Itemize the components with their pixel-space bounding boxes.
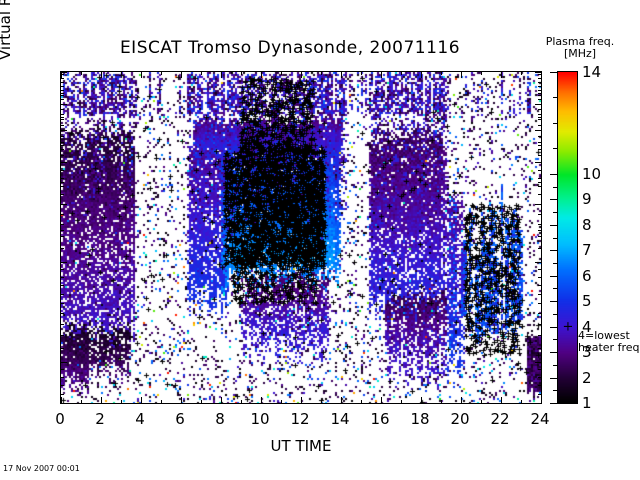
y-tick-minor	[60, 149, 64, 150]
y-tick-major	[60, 403, 67, 404]
y-axis-title-line1: Virtual Range [km]	[0, 0, 14, 60]
x-tick-minor	[201, 71, 202, 75]
y-tick-minor	[60, 170, 64, 171]
colorbar-tick-minor	[553, 339, 557, 340]
y-tick-minor	[60, 313, 64, 314]
y-tick-minor	[538, 285, 542, 286]
y-tick-minor	[538, 142, 542, 143]
y-tick-minor	[538, 348, 542, 349]
y-tick-major	[60, 204, 67, 205]
x-tick-label: 0	[55, 410, 65, 428]
y-tick-minor	[538, 186, 542, 187]
colorbar-tick-label: 10	[582, 165, 601, 183]
x-tick-major	[101, 71, 102, 78]
y-tick-major	[535, 403, 542, 404]
x-tick-minor	[321, 400, 322, 404]
y-tick-minor	[538, 277, 542, 278]
y-tick-minor	[60, 86, 64, 87]
colorbar-tick	[550, 327, 557, 328]
colorbar-note: 4=lowest heater freq.	[578, 330, 640, 354]
x-tick-minor	[441, 400, 442, 404]
ionogram-scatter-canvas	[61, 72, 541, 403]
y-tick-minor	[538, 369, 542, 370]
x-tick-minor	[281, 71, 282, 75]
y-tick-minor	[60, 236, 64, 237]
y-tick-minor	[60, 117, 64, 118]
x-tick-minor	[121, 400, 122, 404]
y-tick-minor	[60, 178, 64, 179]
y-tick-minor	[60, 155, 64, 156]
y-tick-minor	[538, 385, 542, 386]
x-tick-major	[141, 397, 142, 404]
y-tick-minor	[60, 186, 64, 187]
colorbar[interactable]: +	[557, 71, 578, 404]
y-tick-minor	[538, 82, 542, 83]
colorbar-heater-marker: +	[563, 320, 574, 333]
colorbar-tick	[550, 72, 557, 73]
x-tick-major	[221, 397, 222, 404]
x-tick-major	[141, 71, 142, 78]
y-tick-minor	[60, 224, 64, 225]
y-tick-minor	[538, 230, 542, 231]
x-tick-major	[341, 71, 342, 78]
y-tick-major	[535, 362, 542, 363]
x-tick-major	[61, 397, 62, 404]
colorbar-tick	[550, 199, 557, 200]
x-tick-major	[101, 397, 102, 404]
y-tick-minor	[60, 109, 64, 110]
x-tick-label: 24	[530, 410, 549, 428]
y-tick-minor	[60, 82, 64, 83]
y-tick-minor	[60, 142, 64, 143]
x-tick-minor	[161, 400, 162, 404]
y-tick-minor	[538, 182, 542, 183]
colorbar-title-line2: [MHz]	[520, 48, 640, 60]
y-tick-minor	[538, 74, 542, 75]
y-tick-minor	[538, 303, 542, 304]
x-tick-minor	[201, 400, 202, 404]
y-tick-minor	[60, 394, 64, 395]
y-tick-minor	[538, 194, 542, 195]
y-tick-minor	[60, 78, 64, 79]
y-tick-major	[60, 362, 67, 363]
colorbar-tick-minor	[553, 390, 557, 391]
x-tick-minor	[481, 71, 482, 75]
y-tick-minor	[538, 114, 542, 115]
x-tick-major	[501, 71, 502, 78]
y-tick-minor	[60, 119, 64, 120]
y-tick-minor	[60, 114, 64, 115]
x-tick-minor	[401, 71, 402, 75]
y-tick-minor	[60, 303, 64, 304]
colorbar-tick-minor	[553, 238, 557, 239]
y-tick-minor	[60, 248, 64, 249]
colorbar-tick	[550, 174, 557, 175]
y-tick-minor	[60, 277, 64, 278]
x-tick-major	[301, 71, 302, 78]
x-tick-label: 12	[290, 410, 309, 428]
y-tick-minor	[538, 324, 542, 325]
y-axis-title: Virtual Range [km] (colour= Freq)	[0, 0, 14, 60]
x-tick-label: 4	[135, 410, 145, 428]
x-tick-minor	[441, 71, 442, 75]
x-tick-major	[421, 397, 422, 404]
x-tick-major	[221, 71, 222, 78]
x-tick-major	[501, 397, 502, 404]
colorbar-tick-label: 5	[582, 292, 592, 310]
colorbar-tick	[550, 378, 557, 379]
y-tick-minor	[538, 93, 542, 94]
y-tick-minor	[538, 335, 542, 336]
x-tick-minor	[121, 71, 122, 75]
x-tick-minor	[481, 400, 482, 404]
y-tick-minor	[538, 119, 542, 120]
y-tick-minor	[538, 170, 542, 171]
y-tick-major	[535, 130, 542, 131]
x-tick-major	[461, 71, 462, 78]
x-tick-label: 8	[215, 410, 225, 428]
y-tick-minor	[538, 99, 542, 100]
x-tick-major	[381, 71, 382, 78]
colorbar-tick-label: 8	[582, 216, 592, 234]
colorbar-tick	[550, 301, 557, 302]
colorbar-note-line2: heater freq.	[578, 342, 640, 354]
y-tick-major	[60, 104, 67, 105]
y-tick-minor	[538, 313, 542, 314]
y-tick-minor	[60, 93, 64, 94]
y-tick-minor	[60, 182, 64, 183]
x-tick-minor	[241, 400, 242, 404]
x-tick-label: 2	[95, 410, 105, 428]
x-axis-title: UT TIME	[60, 437, 542, 455]
colorbar-tick-label: 1	[582, 394, 592, 412]
x-tick-major	[541, 71, 542, 78]
y-tick-minor	[538, 214, 542, 215]
y-tick-minor	[60, 285, 64, 286]
y-tick-minor	[538, 117, 542, 118]
colorbar-tick-minor	[553, 263, 557, 264]
x-tick-label: 22	[490, 410, 509, 428]
y-tick-minor	[538, 236, 542, 237]
y-tick-minor	[60, 125, 64, 126]
colorbar-gradient	[558, 72, 577, 403]
x-tick-label: 18	[410, 410, 429, 428]
render-timestamp: 17 Nov 2007 00:01	[3, 464, 80, 473]
colorbar-title: Plasma freq. [MHz]	[520, 36, 640, 60]
colorbar-tick-minor	[553, 187, 557, 188]
page-title: EISCAT Tromso Dynasonde, 20071116	[60, 38, 520, 58]
y-tick-minor	[538, 155, 542, 156]
x-tick-major	[341, 397, 342, 404]
y-tick-major	[535, 104, 542, 105]
colorbar-tick-minor	[553, 148, 557, 149]
x-tick-minor	[161, 71, 162, 75]
x-tick-minor	[81, 400, 82, 404]
x-tick-minor	[401, 400, 402, 404]
y-tick-minor	[60, 145, 64, 146]
y-tick-minor	[538, 269, 542, 270]
x-tick-label: 6	[175, 410, 185, 428]
y-tick-minor	[60, 348, 64, 349]
y-tick-minor	[538, 95, 542, 96]
plot-area[interactable]	[60, 71, 542, 404]
x-tick-label: 10	[250, 410, 269, 428]
y-tick-minor	[538, 178, 542, 179]
colorbar-tick-label: 6	[582, 267, 592, 285]
x-tick-major	[381, 397, 382, 404]
x-tick-major	[301, 397, 302, 404]
colorbar-tick-label: 9	[582, 190, 592, 208]
y-tick-minor	[538, 248, 542, 249]
y-tick-major	[60, 162, 67, 163]
y-tick-major	[535, 262, 542, 263]
y-tick-minor	[538, 78, 542, 79]
y-tick-minor	[538, 90, 542, 91]
y-tick-minor	[60, 269, 64, 270]
colorbar-tick	[550, 225, 557, 226]
y-tick-minor	[60, 99, 64, 100]
colorbar-tick	[550, 403, 557, 404]
x-tick-label: 20	[450, 410, 469, 428]
colorbar-tick	[550, 276, 557, 277]
x-tick-minor	[361, 400, 362, 404]
y-tick-minor	[60, 136, 64, 137]
x-tick-minor	[241, 71, 242, 75]
y-tick-major	[535, 204, 542, 205]
y-tick-major	[60, 130, 67, 131]
x-tick-major	[421, 71, 422, 78]
y-tick-minor	[60, 230, 64, 231]
x-tick-major	[461, 397, 462, 404]
x-tick-major	[61, 71, 62, 78]
x-tick-label: 16	[370, 410, 389, 428]
colorbar-tick-minor	[553, 314, 557, 315]
x-tick-major	[261, 397, 262, 404]
y-tick-minor	[538, 149, 542, 150]
y-tick-minor	[538, 377, 542, 378]
y-tick-minor	[60, 377, 64, 378]
y-tick-minor	[538, 294, 542, 295]
y-tick-minor	[538, 86, 542, 87]
y-tick-minor	[60, 385, 64, 386]
colorbar-tick-minor	[553, 97, 557, 98]
x-tick-major	[181, 71, 182, 78]
y-tick-major	[535, 162, 542, 163]
colorbar-tick-minor	[553, 365, 557, 366]
x-tick-label: 14	[330, 410, 349, 428]
x-tick-minor	[521, 71, 522, 75]
x-tick-minor	[361, 71, 362, 75]
y-tick-minor	[60, 95, 64, 96]
y-tick-minor	[60, 335, 64, 336]
y-tick-minor	[538, 394, 542, 395]
y-tick-minor	[60, 294, 64, 295]
colorbar-tick	[550, 250, 557, 251]
colorbar-tick-minor	[553, 212, 557, 213]
ionogram-plot-page: EISCAT Tromso Dynasonde, 20071116 Plasma…	[0, 0, 640, 480]
y-tick-major	[60, 262, 67, 263]
y-tick-minor	[60, 90, 64, 91]
x-tick-minor	[321, 71, 322, 75]
y-tick-minor	[60, 214, 64, 215]
colorbar-tick-minor	[553, 288, 557, 289]
colorbar-note-line1: 4=lowest	[578, 330, 640, 342]
colorbar-tick-label: 2	[582, 369, 592, 387]
y-tick-minor	[538, 109, 542, 110]
y-tick-minor	[538, 224, 542, 225]
y-tick-minor	[60, 324, 64, 325]
y-tick-minor	[60, 194, 64, 195]
y-tick-minor	[60, 369, 64, 370]
x-tick-major	[541, 397, 542, 404]
colorbar-tick-label: 7	[582, 241, 592, 259]
colorbar-tick	[550, 352, 557, 353]
x-tick-major	[181, 397, 182, 404]
x-tick-major	[261, 71, 262, 78]
y-tick-minor	[538, 136, 542, 137]
x-tick-minor	[521, 400, 522, 404]
y-tick-minor	[538, 125, 542, 126]
y-tick-minor	[538, 145, 542, 146]
colorbar-tick-minor	[553, 123, 557, 124]
colorbar-tick-label: 14	[582, 63, 601, 81]
x-tick-minor	[81, 71, 82, 75]
x-tick-minor	[281, 400, 282, 404]
